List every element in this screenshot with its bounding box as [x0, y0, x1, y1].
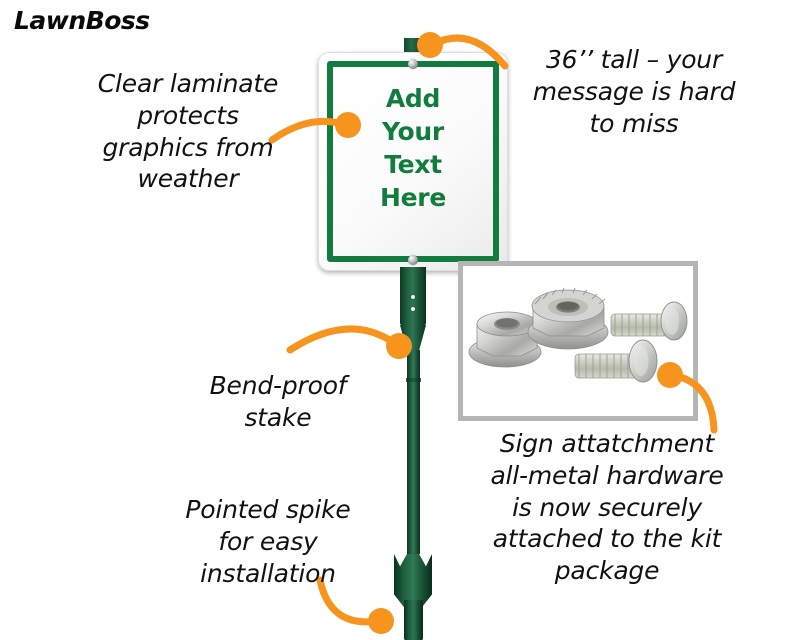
stake-mounting-hole-2 — [411, 307, 415, 311]
stake-joint-band — [406, 378, 421, 382]
screw-icon-top — [408, 59, 418, 69]
annotation-bend-proof-stake: Bend-proof stake — [170, 370, 386, 434]
stake-upper-section — [400, 267, 426, 325]
annotation-pointed-spike: Pointed spike for easy installation — [152, 494, 384, 589]
sign-panel: Add Your Text Here — [318, 52, 508, 271]
flange-nut-top — [528, 288, 608, 349]
stake-pointed-tip — [404, 600, 423, 640]
hardware-illustration — [463, 266, 693, 416]
annotation-clear-laminate: Clear laminate protects graphics from we… — [60, 68, 316, 195]
flange-nut-angled — [469, 312, 541, 367]
pan-head-bolt-back — [611, 302, 687, 340]
hardware-photo-inset — [458, 261, 698, 421]
stake-mounting-hole-1 — [411, 295, 415, 299]
annotation-sign-attachment-hardware: Sign attatchment all-metal hardware is n… — [432, 428, 782, 587]
stake-shoulder-taper — [400, 325, 426, 351]
sign-text: Add Your Text Here — [318, 82, 508, 214]
product-infographic: LawnBoss Add Your Text Here — [0, 0, 800, 640]
annotation-36-inch-tall: 36’’ tall – your message is hard to miss — [498, 44, 770, 139]
brand-title: LawnBoss — [14, 6, 150, 35]
screw-icon-bottom — [408, 255, 418, 265]
